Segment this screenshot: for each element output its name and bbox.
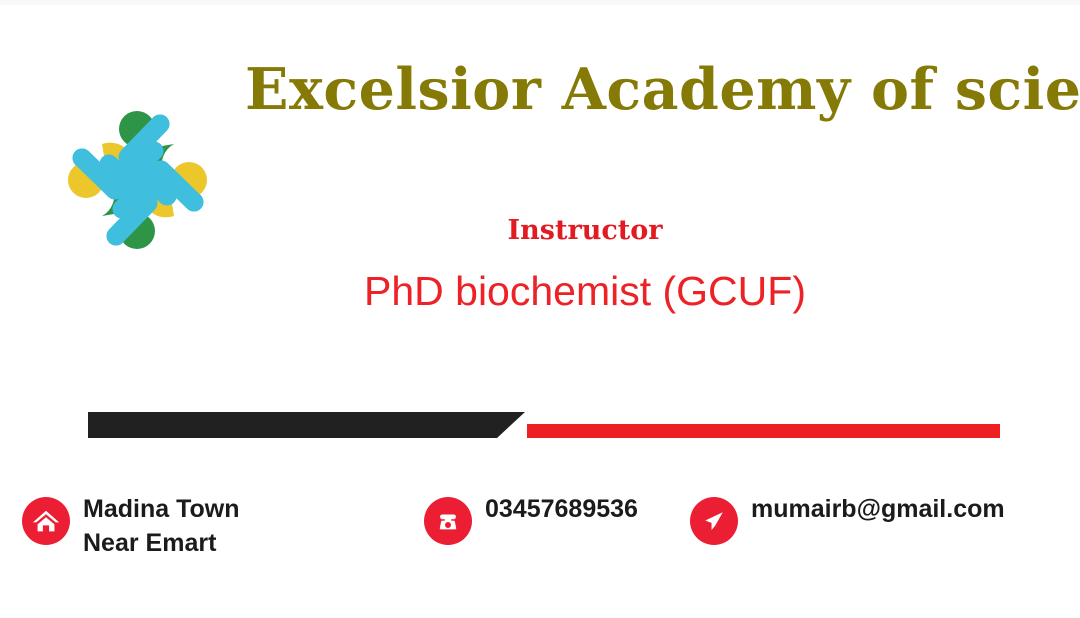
contact-address[interactable]: Madina Town Near Emart: [22, 492, 239, 560]
contact-address-line2: Near Emart: [83, 526, 239, 560]
divider: [0, 404, 1080, 448]
contact-email-text: mumairb@gmail.com: [751, 492, 1005, 526]
contact-phone-number: 03457689536: [485, 495, 638, 523]
page-title: Excelsior Academy of sciences: [245, 56, 1045, 123]
instructor-label: Instructor: [285, 215, 885, 246]
logo-pinwheel: [68, 111, 207, 249]
contact-address-text: Madina Town Near Emart: [83, 492, 239, 560]
contact-phone-text: 03457689536: [485, 492, 638, 526]
divider-black-bar: [88, 412, 525, 438]
paper-plane-icon: [690, 497, 738, 545]
business-card: Excelsior Academy of sciences Instructor…: [0, 0, 1080, 618]
contact-row: Madina Town Near Emart 03457689536: [0, 492, 1080, 572]
contact-email-address: mumairb@gmail.com: [751, 495, 1005, 523]
divider-red-bar: [527, 424, 1000, 438]
excelsior-academy-logo: [58, 100, 218, 260]
instructor-degree: PhD biochemist (GCUF): [285, 268, 885, 315]
telephone-icon: [424, 497, 472, 545]
contact-address-line1: Madina Town: [83, 495, 239, 523]
top-edge-strip: [0, 0, 1080, 5]
contact-email[interactable]: mumairb@gmail.com: [690, 492, 1005, 545]
contact-phone[interactable]: 03457689536: [424, 492, 638, 545]
home-icon: [22, 497, 70, 545]
